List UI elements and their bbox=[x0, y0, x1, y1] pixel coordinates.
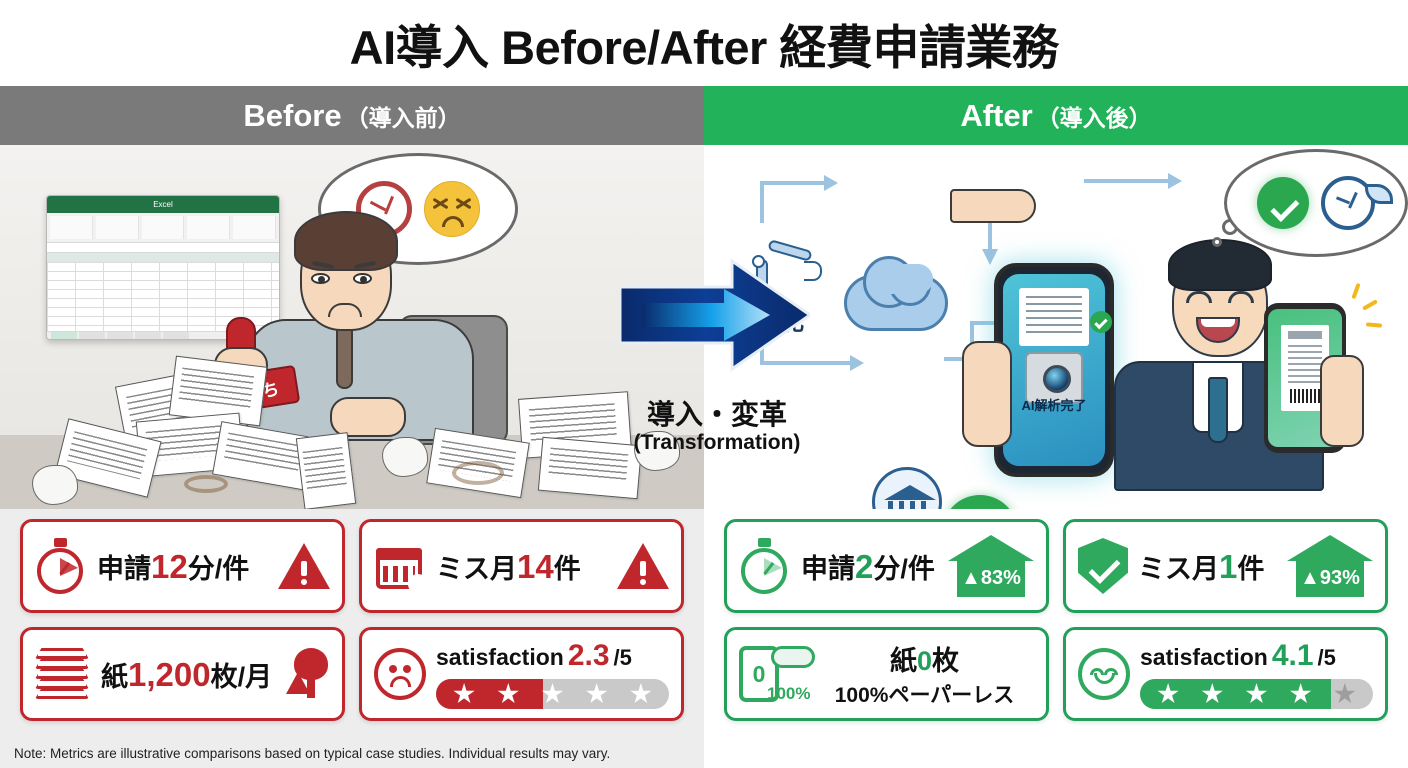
improvement-badge: ▲93% bbox=[1287, 535, 1373, 597]
satisfaction-label: satisfaction bbox=[1140, 644, 1268, 671]
improvement-badge-value: ▲93% bbox=[1296, 560, 1364, 597]
metric-suffix: 件 bbox=[1237, 547, 1264, 586]
after-metrics: 申請2分/件 ▲83% ミス月1件 bbox=[704, 509, 1408, 739]
satisfaction-denominator: /5 bbox=[1318, 645, 1336, 671]
header-after-main: After bbox=[960, 98, 1032, 134]
star-icon bbox=[453, 683, 475, 705]
crumpled-paper bbox=[32, 465, 78, 505]
warning-triangle-icon bbox=[617, 543, 669, 589]
phone-screen: AI解析完了 bbox=[1003, 274, 1105, 466]
metric-value: 2 bbox=[855, 548, 873, 586]
thought-dot-small bbox=[1212, 237, 1222, 247]
sad-face-icon bbox=[374, 648, 426, 700]
improvement-badge: ▲83% bbox=[948, 535, 1034, 597]
phone-cloud-icon: 0 100% bbox=[739, 646, 779, 702]
card-after-time-per-claim[interactable]: 申請2分/件 ▲83% bbox=[724, 519, 1049, 613]
illustration-row: Excel bbox=[0, 145, 1408, 509]
card-after-paper-per-month[interactable]: 0 100% 紙0枚 100%ペーパーレス bbox=[724, 627, 1049, 721]
worker-eye-left bbox=[311, 273, 330, 284]
metric-value: 1 bbox=[1219, 548, 1237, 586]
distressed-face-emoji bbox=[424, 181, 480, 237]
satisfaction-label-row: satisfaction 2.3 /5 bbox=[436, 639, 669, 673]
coffee-stain bbox=[184, 475, 228, 493]
cloud-icon bbox=[844, 275, 948, 331]
star-icon bbox=[586, 683, 608, 705]
phone-zero-value: 0 bbox=[753, 661, 766, 688]
footnote-row: Note: Metrics are illustrative compariso… bbox=[0, 739, 1408, 768]
check-circle-icon bbox=[942, 495, 1018, 509]
star-icons bbox=[436, 679, 669, 709]
metric-value: 14 bbox=[517, 548, 554, 586]
calendar-x-icon: ✕ bbox=[374, 541, 426, 591]
footnote-container: Note: Metrics are illustrative compariso… bbox=[0, 739, 704, 768]
paper-stack-icon bbox=[35, 648, 91, 700]
satisfaction-star-bar bbox=[436, 679, 669, 709]
worker-hand-right bbox=[330, 397, 406, 437]
metric-paper-per-month: 紙1,200枚/月 bbox=[101, 655, 272, 694]
footnote-spacer bbox=[704, 739, 1408, 768]
stopwatch-icon bbox=[35, 538, 87, 594]
metric-time-per-claim: 申請12分/件 bbox=[97, 547, 249, 586]
card-after-errors-per-month[interactable]: ミス月1件 ▲93% bbox=[1063, 519, 1388, 613]
star-icon bbox=[497, 683, 519, 705]
transformation-label: 導入・変革 (Transformation) bbox=[592, 393, 842, 455]
satisfaction-star-bar bbox=[1140, 679, 1373, 709]
metric-prefix: ミス月 bbox=[1138, 547, 1219, 586]
metric-prefix: ミス月 bbox=[436, 547, 517, 586]
metric-prefix: 申請 bbox=[97, 547, 151, 586]
header-before: Before （導入前） bbox=[0, 86, 704, 145]
star-icon bbox=[1290, 683, 1312, 705]
sparkle-icon bbox=[1351, 283, 1360, 299]
hand-holding-phone bbox=[962, 341, 1012, 447]
sparkle-icon bbox=[1362, 299, 1378, 310]
star-icon bbox=[1157, 683, 1179, 705]
satisfaction-value: 4.1 bbox=[1272, 639, 1314, 673]
star-icon bbox=[541, 683, 563, 705]
metric-suffix: 件 bbox=[554, 547, 581, 586]
transformation-label-jp: 導入・変革 bbox=[592, 393, 842, 433]
metric-paper-per-month: 紙0枚 bbox=[835, 639, 1015, 678]
worker-tie bbox=[336, 323, 353, 389]
card-after-satisfaction[interactable]: satisfaction 4.1 /5 bbox=[1063, 627, 1388, 721]
metric-prefix: 紙 bbox=[890, 646, 917, 676]
phone-check-badge-icon bbox=[1090, 311, 1112, 333]
scanning-phone: AI解析完了 bbox=[994, 263, 1114, 477]
transformation-label-en: (Transformation) bbox=[592, 431, 842, 455]
shield-check-icon bbox=[1078, 538, 1128, 594]
transformation-arrow bbox=[620, 255, 810, 375]
cloud-icon bbox=[771, 646, 815, 668]
hand-check-icon bbox=[950, 189, 1036, 223]
card-before-satisfaction[interactable]: satisfaction 2.3 /5 bbox=[359, 627, 684, 721]
worker-hair bbox=[294, 211, 398, 271]
smiley-face-icon bbox=[1078, 648, 1130, 700]
camera-lens-icon bbox=[1043, 365, 1071, 393]
spreadsheet-title: Excel bbox=[47, 196, 279, 213]
header-before-sub: （導入前） bbox=[346, 99, 461, 133]
stopwatch-icon bbox=[739, 538, 791, 594]
receipt-slip bbox=[296, 432, 356, 509]
star-icon bbox=[1245, 683, 1267, 705]
crumpled-paper bbox=[382, 437, 428, 477]
metric-suffix: 分/件 bbox=[873, 547, 935, 586]
coffee-stain bbox=[452, 461, 504, 485]
title-bar: AI導入 Before/After 経費申請業務 bbox=[0, 0, 1408, 86]
metric-suffix: 枚/月 bbox=[211, 655, 273, 694]
formula-bar bbox=[47, 243, 279, 253]
check-circle-icon bbox=[1257, 177, 1309, 229]
metric-suffix: 分/件 bbox=[188, 547, 250, 586]
star-icon bbox=[1334, 683, 1356, 705]
after-thought-bubble bbox=[1224, 149, 1408, 257]
receipt-preview bbox=[1019, 288, 1089, 346]
footnote-text: Note: Metrics are illustrative compariso… bbox=[14, 746, 610, 761]
metric-value: 1,200 bbox=[128, 656, 211, 694]
winged-stopwatch-icon bbox=[1321, 176, 1375, 230]
header-after-sub: （導入後） bbox=[1037, 99, 1152, 133]
satisfaction-label-row: satisfaction 4.1 /5 bbox=[1140, 639, 1373, 673]
warning-triangle-icon bbox=[278, 543, 330, 589]
metric-prefix: 紙 bbox=[101, 655, 128, 694]
before-metrics: 申請12分/件 ✕ ミス月14件 bbox=[0, 509, 704, 739]
bank-icon bbox=[872, 467, 942, 509]
paperless-percent: 100% bbox=[767, 684, 810, 704]
card-before-errors-per-month[interactable]: ✕ ミス月14件 bbox=[359, 519, 684, 613]
businessman-hair bbox=[1168, 239, 1272, 291]
spreadsheet-ribbon bbox=[47, 213, 279, 243]
star-icons bbox=[1140, 679, 1373, 709]
metrics-row: 申請12分/件 ✕ ミス月14件 bbox=[0, 509, 1408, 739]
improvement-badge-value: ▲83% bbox=[957, 560, 1025, 597]
star-icon bbox=[630, 683, 652, 705]
satisfaction-value: 2.3 bbox=[568, 639, 610, 673]
paperless-caption: 100%ペーパーレス bbox=[835, 679, 1015, 709]
infographic-page: AI導入 Before/After 経費申請業務 Before （導入前） Af… bbox=[0, 0, 1408, 768]
ai-status-text: AI解析完了 bbox=[1003, 395, 1105, 414]
header-before-main: Before bbox=[243, 98, 341, 134]
satisfaction-denominator: /5 bbox=[614, 645, 632, 671]
satisfaction-label: satisfaction bbox=[436, 644, 564, 671]
businessman-tie bbox=[1208, 377, 1228, 443]
metric-value: 12 bbox=[151, 548, 188, 586]
hand-right bbox=[1320, 355, 1364, 447]
metric-errors-per-month: ミス月1件 bbox=[1138, 547, 1264, 586]
metric-errors-per-month: ミス月14件 bbox=[436, 547, 581, 586]
card-before-paper-per-month[interactable]: 紙1,200枚/月 bbox=[20, 627, 345, 721]
header-after: After （導入後） bbox=[704, 86, 1408, 145]
worker-eye-right bbox=[353, 273, 372, 284]
star-icon bbox=[1201, 683, 1223, 705]
metric-prefix: 申請 bbox=[801, 547, 855, 586]
metric-value: 0 bbox=[917, 646, 932, 676]
metric-suffix: 枚 bbox=[932, 646, 959, 676]
sparkle-icon bbox=[1366, 322, 1382, 327]
tree-axe-icon bbox=[286, 648, 330, 700]
card-before-time-per-claim[interactable]: 申請12分/件 bbox=[20, 519, 345, 613]
section-headers: Before （導入前） After （導入後） bbox=[0, 86, 1408, 145]
page-title: AI導入 Before/After 経費申請業務 bbox=[350, 9, 1059, 78]
metric-time-per-claim: 申請2分/件 bbox=[801, 547, 935, 586]
